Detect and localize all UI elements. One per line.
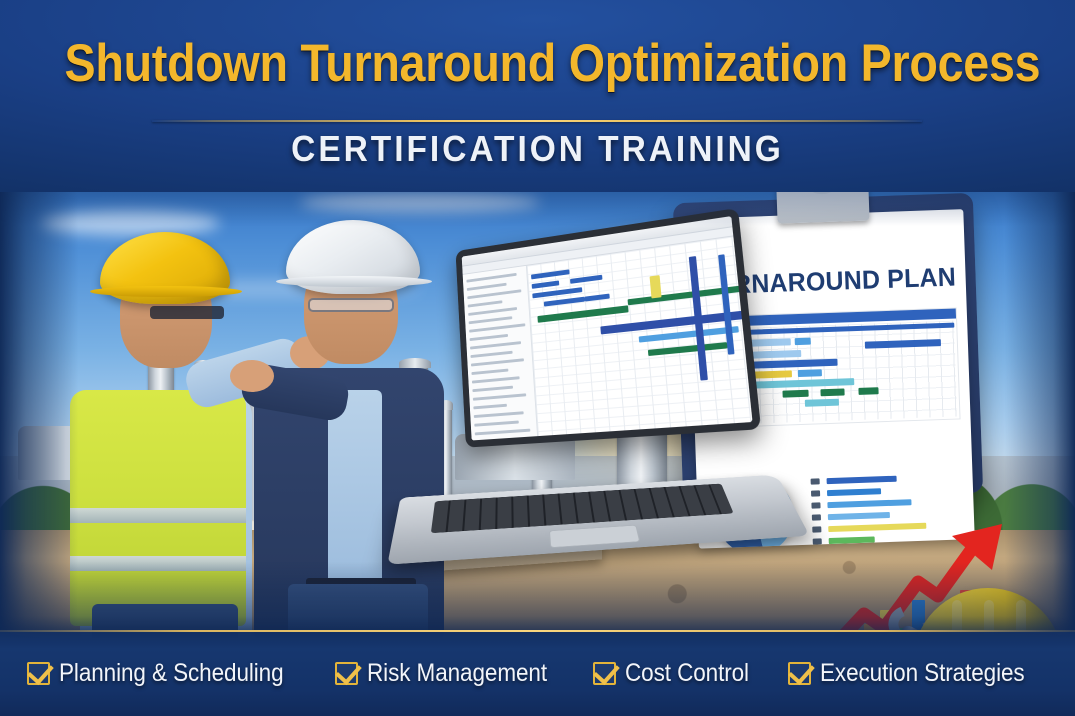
checkbox-checked-icon[interactable] xyxy=(788,662,811,685)
photo-scene: TURNAROUND PLAN xyxy=(0,170,1075,640)
checklist-item-label: Risk Management xyxy=(367,659,547,688)
gantt-bar xyxy=(544,297,585,307)
gantt-bar xyxy=(585,294,610,302)
checkbox-checked-icon[interactable] xyxy=(335,662,358,685)
checklist-item[interactable]: Planning & Scheduling xyxy=(27,659,308,688)
checklist-item-label: Planning & Scheduling xyxy=(59,659,284,688)
laptop-trackpad xyxy=(549,525,640,548)
page-title: Shutdown Turnaround Optimization Process xyxy=(65,36,1011,92)
checkbox-checked-icon[interactable] xyxy=(27,662,50,685)
safety-glasses xyxy=(308,298,394,312)
banner-footer: Planning & Scheduling Risk Management Co… xyxy=(0,630,1075,716)
vest-reflective-band xyxy=(70,556,246,571)
safety-glasses xyxy=(150,306,224,319)
gantt-bar xyxy=(537,305,628,323)
gantt-bar xyxy=(531,269,570,279)
banner-header: Shutdown Turnaround Optimization Process… xyxy=(0,0,1075,192)
laptop-keyboard xyxy=(431,484,734,534)
laptop xyxy=(398,338,798,568)
gantt-bar xyxy=(532,280,560,288)
cloud xyxy=(300,192,540,212)
checklist-item[interactable]: Risk Management xyxy=(335,659,567,688)
vest-reflective-band xyxy=(70,508,246,523)
checklist-item[interactable]: Cost Control xyxy=(593,659,763,688)
gantt-bar xyxy=(532,287,582,298)
checkbox-checked-icon[interactable] xyxy=(593,662,616,685)
checklist-item-label: Execution Strategies xyxy=(820,659,1025,688)
hard-hat-brim xyxy=(90,286,242,297)
checklist-item-label: Cost Control xyxy=(625,659,749,688)
hard-hat-brim xyxy=(276,276,432,287)
laptop-base xyxy=(387,475,809,565)
task-list-pane xyxy=(463,266,538,441)
gantt-bar xyxy=(570,275,602,284)
gantt-milestone xyxy=(650,275,662,298)
gantt-chart-screen xyxy=(462,216,753,440)
gantt-summary xyxy=(718,254,734,354)
title-divider xyxy=(152,120,922,122)
worker-right-shirt xyxy=(328,390,382,590)
laptop-screen xyxy=(462,216,753,440)
worker-right-hand xyxy=(230,360,274,392)
feature-checklist: Planning & Scheduling Risk Management Co… xyxy=(0,630,1075,716)
gantt-grid xyxy=(527,236,753,436)
laptop-lid xyxy=(456,208,762,448)
training-banner: TURNAROUND PLAN xyxy=(0,0,1075,716)
page-subtitle: CERTIFICATION TRAINING xyxy=(38,128,1038,170)
hi-vis-vest xyxy=(70,390,246,626)
checklist-item[interactable]: Execution Strategies xyxy=(788,659,1047,688)
gantt-bar xyxy=(648,342,728,356)
